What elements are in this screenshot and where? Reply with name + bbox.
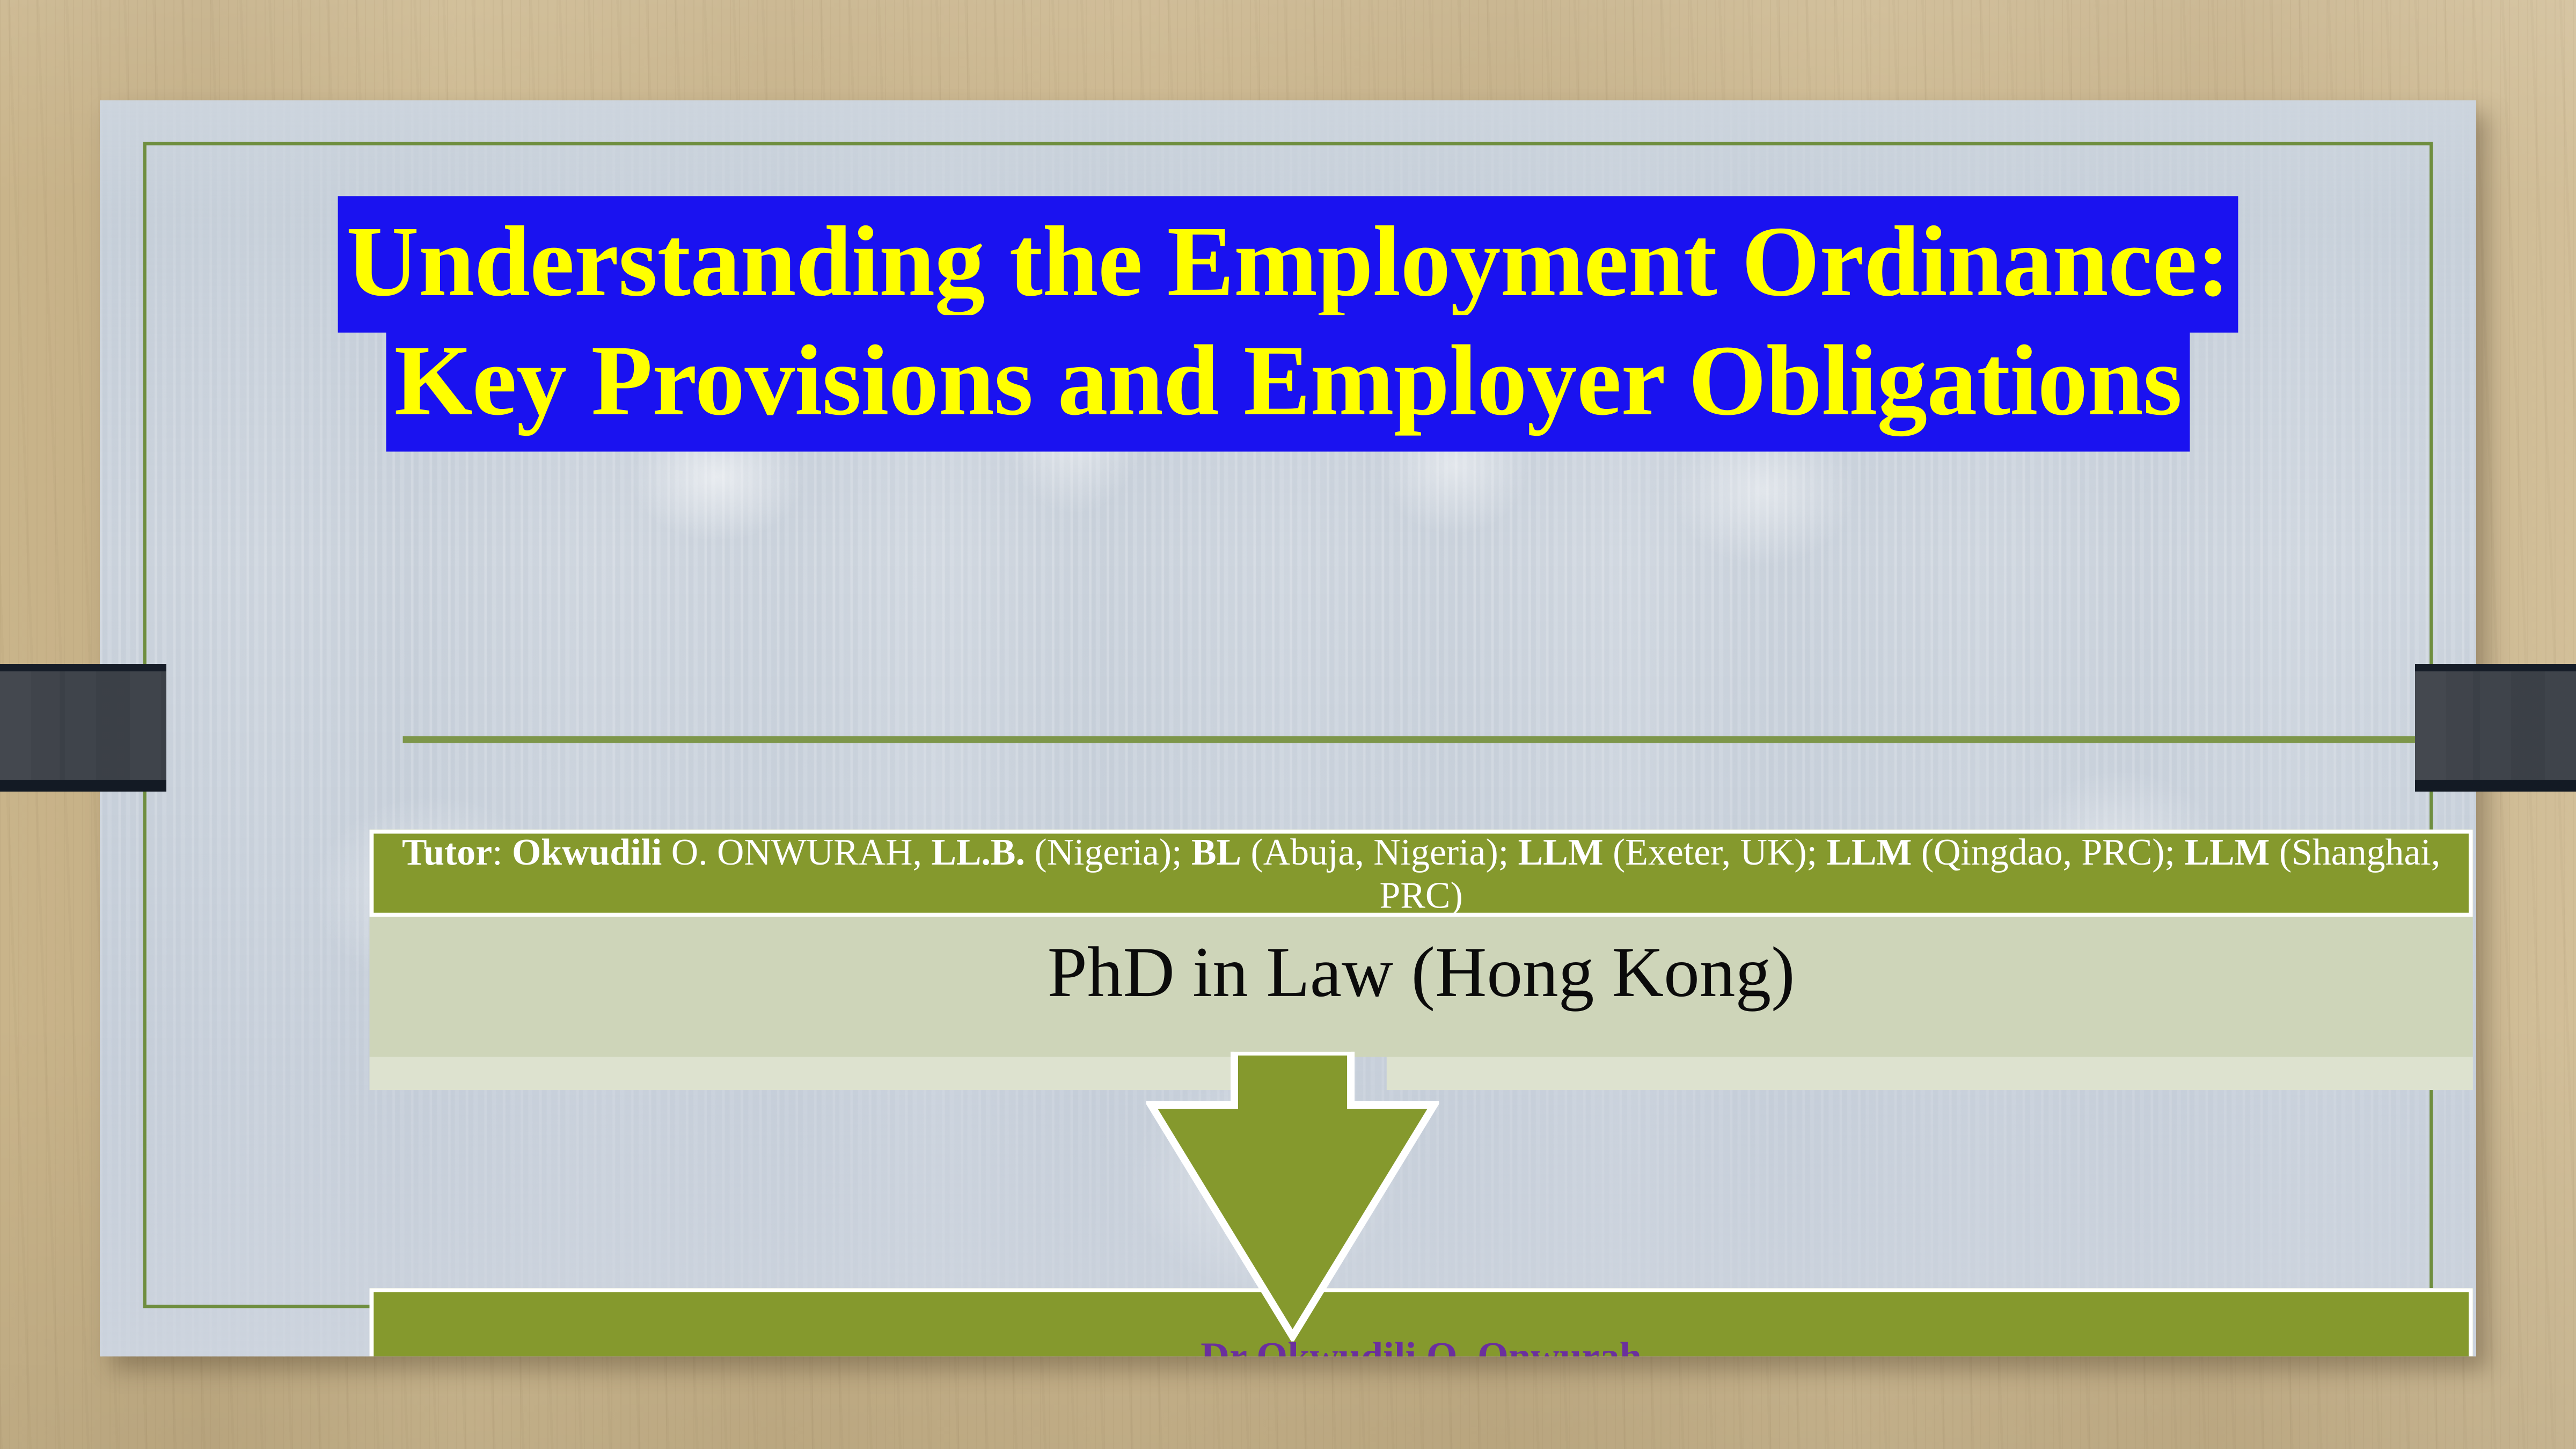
slide-title-line-2-highlight: Key Provisions and Employer Obligations (386, 315, 2190, 451)
down-arrow-icon-polygon (1151, 1052, 1434, 1336)
doctorate-block-footer-left (370, 1057, 1252, 1090)
tutor-label: Tutor (402, 831, 492, 873)
degree-bl: BL (1191, 831, 1241, 873)
slide-title-line-2: Key Provisions and Employer Obligations (100, 322, 2476, 441)
degree-llm-shanghai: LLM (2184, 831, 2270, 873)
doctorate-block: PhD in Law (Hong Kong) (370, 917, 2473, 1057)
down-arrow-icon-shape (1146, 1052, 1439, 1342)
tutor-credentials-band: Tutor: Okwudili O. ONWURAH, LL.B. (Niger… (370, 830, 2473, 917)
right-side-tab (2415, 664, 2576, 792)
left-side-tab-texture (0, 671, 166, 780)
degree-llm-exeter: LLM (1518, 831, 1604, 873)
doctorate-text: PhD in Law (Hong Kong) (370, 928, 2473, 1015)
degree-llm-qingdao: LLM (1826, 831, 1912, 873)
right-side-tab-texture (2415, 671, 2576, 780)
left-side-tab (0, 664, 166, 792)
degree-bl-place: (Abuja, Nigeria); (1241, 831, 1518, 873)
tutor-surname: O. ONWURAH, (662, 831, 931, 873)
tutor-label-separator: : (492, 831, 512, 873)
tutor-credentials-text: Tutor: Okwudili O. ONWURAH, LL.B. (Niger… (374, 830, 2469, 916)
desk-background: Understanding the Employment Ordinance: … (0, 0, 2576, 1449)
down-arrow-icon (1146, 1052, 1439, 1342)
degree-llm-exeter-place: (Exeter, UK); (1604, 831, 1827, 873)
doctorate-block-footer-right (1387, 1057, 2473, 1090)
tutor-first-name: Okwudili (512, 831, 662, 873)
slide-title: Understanding the Employment Ordinance: … (100, 203, 2476, 441)
title-divider-rule (403, 736, 2476, 743)
presentation-slide: Understanding the Employment Ordinance: … (100, 100, 2476, 1357)
degree-llb: LL.B. (931, 831, 1025, 873)
degree-llm-qingdao-place: (Qingdao, PRC); (1912, 831, 2184, 873)
degree-llb-place: (Nigeria); (1025, 831, 1191, 873)
slide-title-line-1-highlight: Understanding the Employment Ordinance: (338, 196, 2238, 332)
slide-title-line-1: Understanding the Employment Ordinance: (100, 203, 2476, 322)
